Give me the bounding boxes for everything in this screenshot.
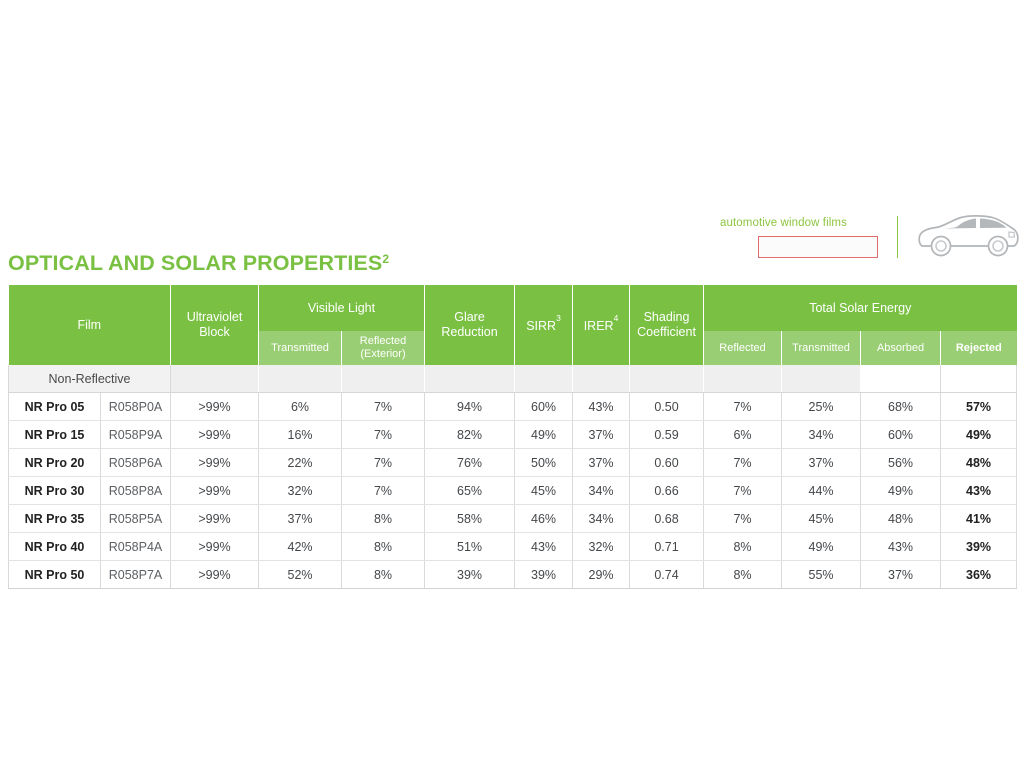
cell-glare-reduction: 51% (425, 533, 515, 561)
cell-glare-reduction: 65% (425, 477, 515, 505)
cell-glare-reduction: 94% (425, 393, 515, 421)
cell-irer: 37% (573, 449, 630, 477)
table-group-row-non-reflective: Non-Reflective (9, 365, 1017, 393)
header-glare-reduction: Glare Reduction (425, 285, 515, 365)
header-tse-absorbed: Absorbed (861, 331, 941, 365)
page-title: OPTICAL AND SOLAR PROPERTIES2 (8, 251, 389, 276)
optical-solar-properties-table: Film Ultraviolet Block Visible Light Gla… (8, 285, 1017, 589)
page-title-superscript: 2 (382, 252, 389, 266)
brand-tagline: automotive window films (720, 216, 847, 230)
cell-vl-transmitted: 22% (259, 449, 342, 477)
cell-tse-absorbed: 48% (861, 505, 941, 533)
cell-shading-coefficient: 0.68 (630, 505, 704, 533)
cell-shading-coefficient: 0.74 (630, 561, 704, 589)
header-tse-transmitted: Transmitted (782, 331, 861, 365)
cell-name: NR Pro 50 (9, 561, 101, 589)
header-irer: IRER4 (573, 285, 630, 365)
header-ultraviolet-block: Ultraviolet Block (171, 285, 259, 365)
group-blank-sirr (515, 365, 573, 393)
cell-glare-reduction: 58% (425, 505, 515, 533)
group-blank-tse-transmitted (782, 365, 861, 393)
cell-uv-block: >99% (171, 561, 259, 589)
group-blank-tse-reflected (704, 365, 782, 393)
car-side-icon (916, 214, 1020, 265)
cell-sirr: 45% (515, 477, 573, 505)
header-total-solar-energy: Total Solar Energy (704, 285, 1017, 331)
cell-tse-rejected: 43% (941, 477, 1017, 505)
cell-code: R058P0A (101, 393, 171, 421)
cell-uv-block: >99% (171, 477, 259, 505)
cell-sirr: 46% (515, 505, 573, 533)
brand-logo-placeholder-box (758, 236, 878, 258)
header-glare-line1: Glare (454, 310, 485, 324)
table-body: Non-Reflective NR Pro 05R058P0A>99%6%7%9… (9, 365, 1017, 589)
header-tse-rejected: Rejected (941, 331, 1017, 365)
cell-vl-transmitted: 16% (259, 421, 342, 449)
cell-tse-absorbed: 56% (861, 449, 941, 477)
cell-tse-reflected: 8% (704, 561, 782, 589)
cell-tse-transmitted: 44% (782, 477, 861, 505)
cell-uv-block: >99% (171, 421, 259, 449)
cell-glare-reduction: 82% (425, 421, 515, 449)
header-shading-line2: Coefficient (637, 325, 696, 339)
cell-vl-reflected: 8% (342, 533, 425, 561)
group-blank-tse-rejected (941, 365, 1017, 393)
header-sirr-superscript: 3 (556, 313, 561, 323)
table-row: NR Pro 05R058P0A>99%6%7%94%60%43%0.507%2… (9, 393, 1017, 421)
table-row: NR Pro 35R058P5A>99%37%8%58%46%34%0.687%… (9, 505, 1017, 533)
cell-name: NR Pro 15 (9, 421, 101, 449)
group-blank-glare (425, 365, 515, 393)
cell-vl-transmitted: 32% (259, 477, 342, 505)
cell-tse-rejected: 41% (941, 505, 1017, 533)
header-sirr: SIRR3 (515, 285, 573, 365)
cell-uv-block: >99% (171, 505, 259, 533)
cell-irer: 29% (573, 561, 630, 589)
group-blank-shading (630, 365, 704, 393)
cell-vl-reflected: 7% (342, 393, 425, 421)
cell-vl-transmitted: 52% (259, 561, 342, 589)
header-irer-text: IRER (584, 320, 614, 334)
cell-tse-transmitted: 25% (782, 393, 861, 421)
cell-shading-coefficient: 0.66 (630, 477, 704, 505)
cell-code: R058P6A (101, 449, 171, 477)
group-blank-uv (171, 365, 259, 393)
cell-tse-reflected: 7% (704, 477, 782, 505)
cell-glare-reduction: 76% (425, 449, 515, 477)
table-header-row-primary: Film Ultraviolet Block Visible Light Gla… (9, 285, 1017, 331)
cell-uv-block: >99% (171, 533, 259, 561)
cell-name: NR Pro 05 (9, 393, 101, 421)
cell-code: R058P5A (101, 505, 171, 533)
cell-tse-rejected: 49% (941, 421, 1017, 449)
cell-sirr: 39% (515, 561, 573, 589)
brand-divider (897, 216, 898, 258)
cell-tse-absorbed: 37% (861, 561, 941, 589)
cell-irer: 34% (573, 505, 630, 533)
cell-tse-transmitted: 34% (782, 421, 861, 449)
group-blank-vl-transmitted (259, 365, 342, 393)
header-sirr-text: SIRR (526, 320, 556, 334)
cell-glare-reduction: 39% (425, 561, 515, 589)
page-title-text: OPTICAL AND SOLAR PROPERTIES (8, 251, 382, 275)
cell-sirr: 60% (515, 393, 573, 421)
header-visible-light: Visible Light (259, 285, 425, 331)
group-blank-vl-reflected (342, 365, 425, 393)
cell-code: R058P4A (101, 533, 171, 561)
header-film: Film (9, 285, 171, 365)
cell-vl-reflected: 8% (342, 505, 425, 533)
header-vl-reflected-line2: (Exterior) (360, 348, 405, 360)
cell-vl-transmitted: 37% (259, 505, 342, 533)
header-vl-transmitted: Transmitted (259, 331, 342, 365)
group-label-non-reflective: Non-Reflective (9, 365, 171, 393)
cell-vl-transmitted: 6% (259, 393, 342, 421)
cell-code: R058P9A (101, 421, 171, 449)
cell-tse-transmitted: 49% (782, 533, 861, 561)
cell-name: NR Pro 40 (9, 533, 101, 561)
table-row: NR Pro 15R058P9A>99%16%7%82%49%37%0.596%… (9, 421, 1017, 449)
cell-sirr: 49% (515, 421, 573, 449)
cell-code: R058P7A (101, 561, 171, 589)
cell-tse-rejected: 39% (941, 533, 1017, 561)
cell-tse-absorbed: 49% (861, 477, 941, 505)
cell-shading-coefficient: 0.50 (630, 393, 704, 421)
cell-tse-reflected: 6% (704, 421, 782, 449)
cell-tse-transmitted: 45% (782, 505, 861, 533)
cell-tse-reflected: 7% (704, 449, 782, 477)
cell-vl-reflected: 7% (342, 449, 425, 477)
cell-tse-rejected: 48% (941, 449, 1017, 477)
cell-irer: 34% (573, 477, 630, 505)
cell-vl-transmitted: 42% (259, 533, 342, 561)
group-blank-tse-absorbed (861, 365, 941, 393)
header-uv-line2: Block (199, 325, 230, 339)
header-uv-line1: Ultraviolet (187, 310, 243, 324)
table-row: NR Pro 40R058P4A>99%42%8%51%43%32%0.718%… (9, 533, 1017, 561)
cell-vl-reflected: 7% (342, 421, 425, 449)
cell-tse-absorbed: 43% (861, 533, 941, 561)
cell-sirr: 43% (515, 533, 573, 561)
header-irer-superscript: 4 (614, 313, 619, 323)
header-vl-reflected-exterior: Reflected (Exterior) (342, 331, 425, 365)
table-row: NR Pro 50R058P7A>99%52%8%39%39%29%0.748%… (9, 561, 1017, 589)
cell-tse-rejected: 36% (941, 561, 1017, 589)
cell-irer: 37% (573, 421, 630, 449)
cell-tse-reflected: 7% (704, 393, 782, 421)
cell-tse-reflected: 8% (704, 533, 782, 561)
cell-vl-reflected: 7% (342, 477, 425, 505)
cell-tse-transmitted: 55% (782, 561, 861, 589)
header-shading-line1: Shading (644, 310, 690, 324)
cell-irer: 32% (573, 533, 630, 561)
cell-tse-reflected: 7% (704, 505, 782, 533)
brand-area: automotive window films (720, 216, 1020, 272)
group-blank-irer (573, 365, 630, 393)
cell-shading-coefficient: 0.71 (630, 533, 704, 561)
header-tse-reflected: Reflected (704, 331, 782, 365)
cell-uv-block: >99% (171, 449, 259, 477)
cell-code: R058P8A (101, 477, 171, 505)
cell-name: NR Pro 30 (9, 477, 101, 505)
cell-tse-absorbed: 68% (861, 393, 941, 421)
cell-vl-reflected: 8% (342, 561, 425, 589)
cell-name: NR Pro 20 (9, 449, 101, 477)
cell-shading-coefficient: 0.59 (630, 421, 704, 449)
brand-text-block: automotive window films (720, 216, 879, 258)
table-row: NR Pro 30R058P8A>99%32%7%65%45%34%0.667%… (9, 477, 1017, 505)
cell-irer: 43% (573, 393, 630, 421)
cell-uv-block: >99% (171, 393, 259, 421)
cell-tse-rejected: 57% (941, 393, 1017, 421)
header-vl-reflected-line1: Reflected (360, 335, 406, 347)
header-glare-line2: Reduction (441, 325, 497, 339)
table-row: NR Pro 20R058P6A>99%22%7%76%50%37%0.607%… (9, 449, 1017, 477)
header-shading-coefficient: Shading Coefficient (630, 285, 704, 365)
cell-shading-coefficient: 0.60 (630, 449, 704, 477)
cell-sirr: 50% (515, 449, 573, 477)
cell-name: NR Pro 35 (9, 505, 101, 533)
cell-tse-absorbed: 60% (861, 421, 941, 449)
cell-tse-transmitted: 37% (782, 449, 861, 477)
